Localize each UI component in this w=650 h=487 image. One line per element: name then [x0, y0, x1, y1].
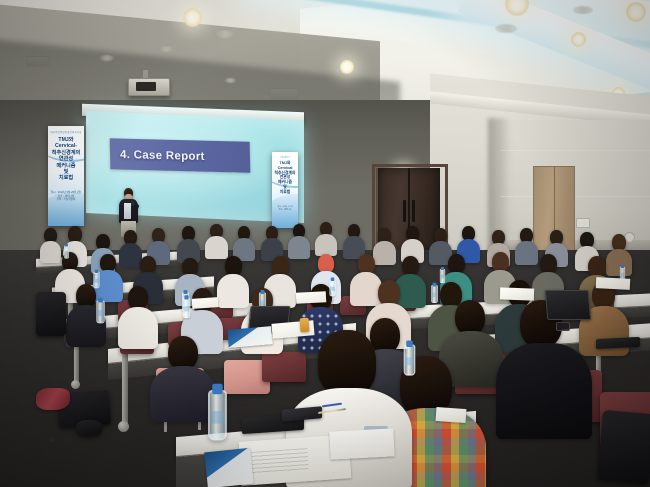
- banner-left: 대한악안면성형재건외과학회 TMJ와 Cervical- 척추신경계의 연관성 …: [48, 126, 84, 226]
- handout-paper[interactable]: [192, 297, 219, 309]
- ceiling-vent: [100, 55, 114, 61]
- attendee-head: [358, 254, 375, 274]
- water-bottle[interactable]: [329, 280, 335, 297]
- attendee-head: [588, 256, 606, 277]
- attendee-head: [402, 256, 419, 276]
- handout-paper[interactable]: [500, 287, 534, 300]
- water-bottle[interactable]: [404, 344, 416, 375]
- handout-text-lines: [251, 448, 308, 474]
- seminar-booklet-foreground[interactable]: [204, 448, 254, 487]
- attendee-torso: [350, 272, 382, 306]
- attendee-head: [455, 300, 485, 335]
- chair-front[interactable]: [262, 352, 306, 382]
- door-handle[interactable]: [412, 200, 415, 222]
- water-bottle[interactable]: [431, 285, 438, 303]
- attendee-torso: [373, 241, 396, 265]
- banner-subtitle-text: 일시 : 2014. 5. 25 장소 : 세미나실: [272, 206, 298, 212]
- ceiling-vent: [573, 6, 593, 14]
- banner-subtitle-text: 일시 : 2014년 5월 25일 (일) 장소 : 세미나실 주최 : 학술위…: [48, 191, 84, 202]
- ceiling-downlight: [626, 2, 646, 22]
- banner-header-text: 대한악안면성형재건외과학회: [48, 130, 84, 134]
- attendee-head: [540, 254, 557, 274]
- table-leg: [122, 352, 128, 424]
- hanging-bag[interactable]: [597, 410, 650, 484]
- ceiling-vent: [225, 78, 236, 83]
- handout-paper[interactable]: [596, 277, 631, 290]
- presenter-microphone: [131, 201, 134, 206]
- attendee-head: [448, 254, 465, 274]
- snack-package[interactable]: [300, 318, 310, 333]
- attendee-torso: [217, 274, 249, 308]
- attendee-head: [370, 318, 400, 353]
- wall-panel-seam: [500, 196, 650, 197]
- attendee-torso: [205, 236, 228, 259]
- water-bottle[interactable]: [96, 301, 105, 324]
- banner-header-text: 학술세미나: [272, 156, 298, 159]
- attendee-torso: [515, 241, 538, 265]
- ceiling-vent: [160, 46, 173, 52]
- attendee-head: [168, 336, 198, 370]
- attendee-torso: [496, 343, 592, 439]
- ceiling-projector: [128, 78, 170, 96]
- ceiling-vent: [495, 24, 517, 33]
- door-handle[interactable]: [403, 200, 406, 222]
- slide-title-text: 4. Case Report: [120, 149, 205, 163]
- water-bottle[interactable]: [64, 245, 69, 258]
- red-patterned-bag: [36, 388, 70, 410]
- handout-paper-foreground[interactable]: [329, 428, 394, 459]
- water-bottle[interactable]: [440, 269, 445, 283]
- floor-bag[interactable]: [36, 292, 66, 336]
- presenter-shirt: [124, 203, 131, 219]
- attendee-torso: [150, 366, 216, 422]
- wall-outlet: [576, 218, 590, 228]
- attendee-torso: [40, 241, 61, 263]
- attendee-head: [225, 256, 242, 276]
- attendee-torso: [315, 234, 337, 256]
- table-caster: [71, 380, 80, 389]
- ceiling-downlight: [183, 8, 202, 27]
- ceiling-downlight: [340, 60, 354, 74]
- banner-title-text: TMJ와 Cervical- 척추신경계의 연관성 메커니즘 및 치료법: [48, 137, 84, 182]
- water-bottle[interactable]: [93, 272, 99, 289]
- attendee-torso: [288, 236, 310, 259]
- seminar-booklet[interactable]: [227, 326, 272, 348]
- eyeglasses: [556, 322, 570, 331]
- ceiling-access-panel: [26, 56, 50, 67]
- banner-title-text: TMJ와 Cervical 척추신경계의 연관성 메커니즘 및 치료법: [272, 161, 298, 195]
- handout-paper[interactable]: [436, 407, 467, 423]
- table-caster: [118, 421, 129, 432]
- attendee-torso: [118, 307, 158, 349]
- banner-right: 학술세미나 TMJ와 Cervical 척추신경계의 연관성 메커니즘 및 치료…: [272, 152, 298, 228]
- attendee-torso: [119, 243, 142, 267]
- water-bottle-foreground[interactable]: [208, 390, 227, 440]
- laptop[interactable]: [545, 290, 592, 320]
- ceiling-vent: [216, 30, 234, 38]
- shoe-or-pouch: [76, 420, 102, 436]
- attendee-head: [492, 252, 509, 272]
- ceiling-downlight: [571, 32, 586, 47]
- seminar-room-photo: 4. Case Report 대한악안면성형재건외과학회 TMJ와 Cervic…: [0, 0, 650, 487]
- water-bottle[interactable]: [183, 298, 191, 318]
- handout-paper[interactable]: [296, 291, 327, 304]
- attendee-head: [318, 330, 376, 396]
- wall-panel-seam: [500, 150, 650, 151]
- attendee-head: [272, 256, 289, 276]
